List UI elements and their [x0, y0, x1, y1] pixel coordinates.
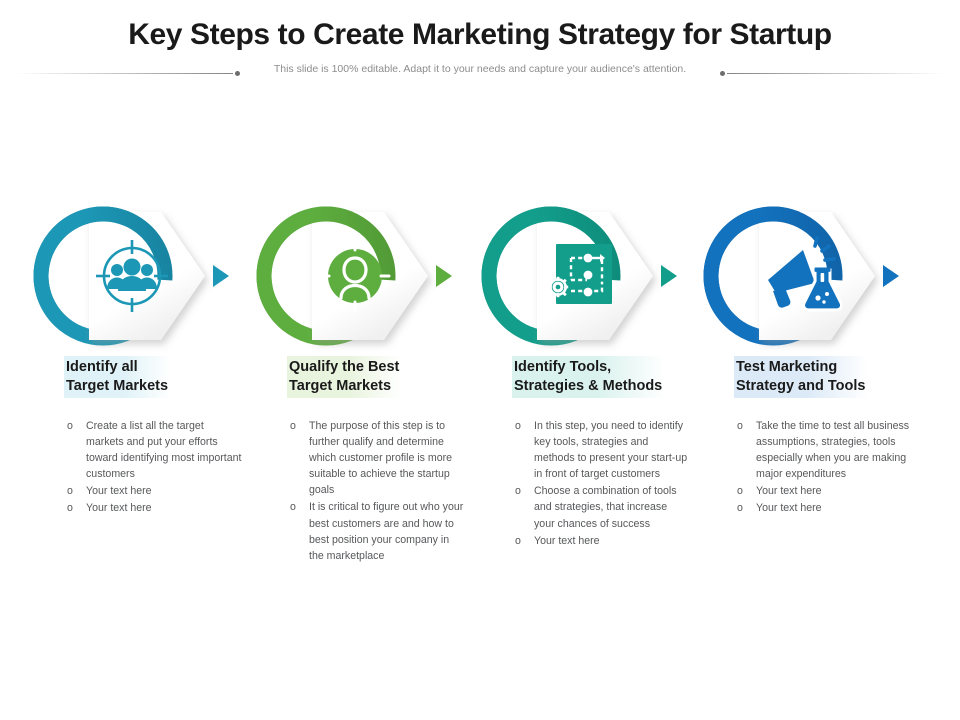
arrow-connector-1 [213, 265, 229, 287]
arrow-connector-4 [883, 265, 899, 287]
bullet-marker-icon: o [515, 418, 521, 434]
workflow-gear-icon [540, 236, 620, 316]
bullet-marker-icon: o [290, 499, 296, 515]
step-badge-1[interactable] [23, 196, 233, 356]
steps-container: Identify all Target MarketsoCreate a lis… [0, 0, 960, 720]
list-item: o It is critical to figure out who your … [287, 499, 465, 563]
list-item-text: The purpose of this step is to further q… [309, 420, 452, 496]
step-bullets-3: oIn this step, you need to identify key … [512, 418, 690, 550]
customer-profile-target-icon [315, 236, 395, 316]
step-heading-2: Qualify the Best Target Markets [287, 356, 402, 398]
list-item-text: In this step, you need to identify key t… [534, 420, 687, 480]
list-item-text: It is critical to figure out who your be… [309, 501, 463, 561]
bullet-marker-icon: o [737, 500, 743, 516]
list-item: oYour text here [512, 533, 690, 549]
target-audience-icon [92, 236, 172, 316]
bullet-marker-icon: o [737, 418, 743, 434]
customer-profile-target-icon [312, 233, 398, 319]
bullet-marker-icon: o [515, 483, 521, 499]
bullet-marker-icon: o [67, 418, 73, 434]
bullet-marker-icon: o [290, 418, 296, 434]
bullet-marker-icon: o [515, 533, 521, 549]
list-item-text: Your text here [756, 502, 822, 514]
list-item-text: Your text here [86, 485, 152, 497]
arrow-connector-3 [661, 265, 677, 287]
arrow-connector-2 [436, 265, 452, 287]
step-column-4: Test Marketing Strategy and Toolso Take … [693, 196, 917, 356]
step-bullets-4: o Take the time to test all business ass… [734, 418, 912, 518]
list-item-text: Your text here [756, 485, 822, 497]
step-badge-3[interactable] [471, 196, 681, 356]
step-bullets-2: oThe purpose of this step is to further … [287, 418, 465, 565]
step-heading-4: Test Marketing Strategy and Tools [734, 356, 868, 398]
workflow-gear-icon [537, 233, 623, 319]
list-item: o Choose a combination of tools and stra… [512, 483, 690, 531]
list-item: oThe purpose of this step is to further … [287, 418, 465, 498]
list-item: oYour text here [734, 500, 912, 516]
megaphone-flask-icon [759, 233, 845, 319]
list-item-text: Choose a combination of tools and strate… [534, 485, 677, 529]
target-audience-icon [89, 233, 175, 319]
step-badge-4[interactable] [693, 196, 903, 356]
list-item-text: Your text here [534, 535, 600, 547]
list-item: oYour text here [734, 483, 912, 499]
list-item: o Take the time to test all business ass… [734, 418, 912, 482]
list-item-text: Your text here [86, 502, 152, 514]
step-bullets-1: oCreate a list all the target markets an… [64, 418, 242, 518]
megaphone-flask-icon [762, 236, 842, 316]
list-item: oYour text here [64, 500, 242, 516]
bullet-marker-icon: o [737, 483, 743, 499]
bullet-marker-icon: o [67, 500, 73, 516]
step-heading-3: Identify Tools, Strategies & Methods [512, 356, 665, 398]
step-column-1: Identify all Target MarketsoCreate a lis… [23, 196, 247, 356]
list-item: oIn this step, you need to identify key … [512, 418, 690, 482]
slide-canvas: Key Steps to Create Marketing Strategy f… [0, 0, 960, 720]
step-badge-2[interactable] [246, 196, 456, 356]
step-column-3: Identify Tools, Strategies & MethodsoIn … [471, 196, 695, 356]
list-item: oCreate a list all the target markets an… [64, 418, 242, 482]
list-item-text: Create a list all the target markets and… [86, 420, 241, 480]
list-item-text: Take the time to test all business assum… [756, 420, 909, 480]
bullet-marker-icon: o [67, 483, 73, 499]
step-column-2: Qualify the Best Target MarketsoThe purp… [246, 196, 470, 356]
list-item: oYour text here [64, 483, 242, 499]
step-heading-1: Identify all Target Markets [64, 356, 171, 398]
